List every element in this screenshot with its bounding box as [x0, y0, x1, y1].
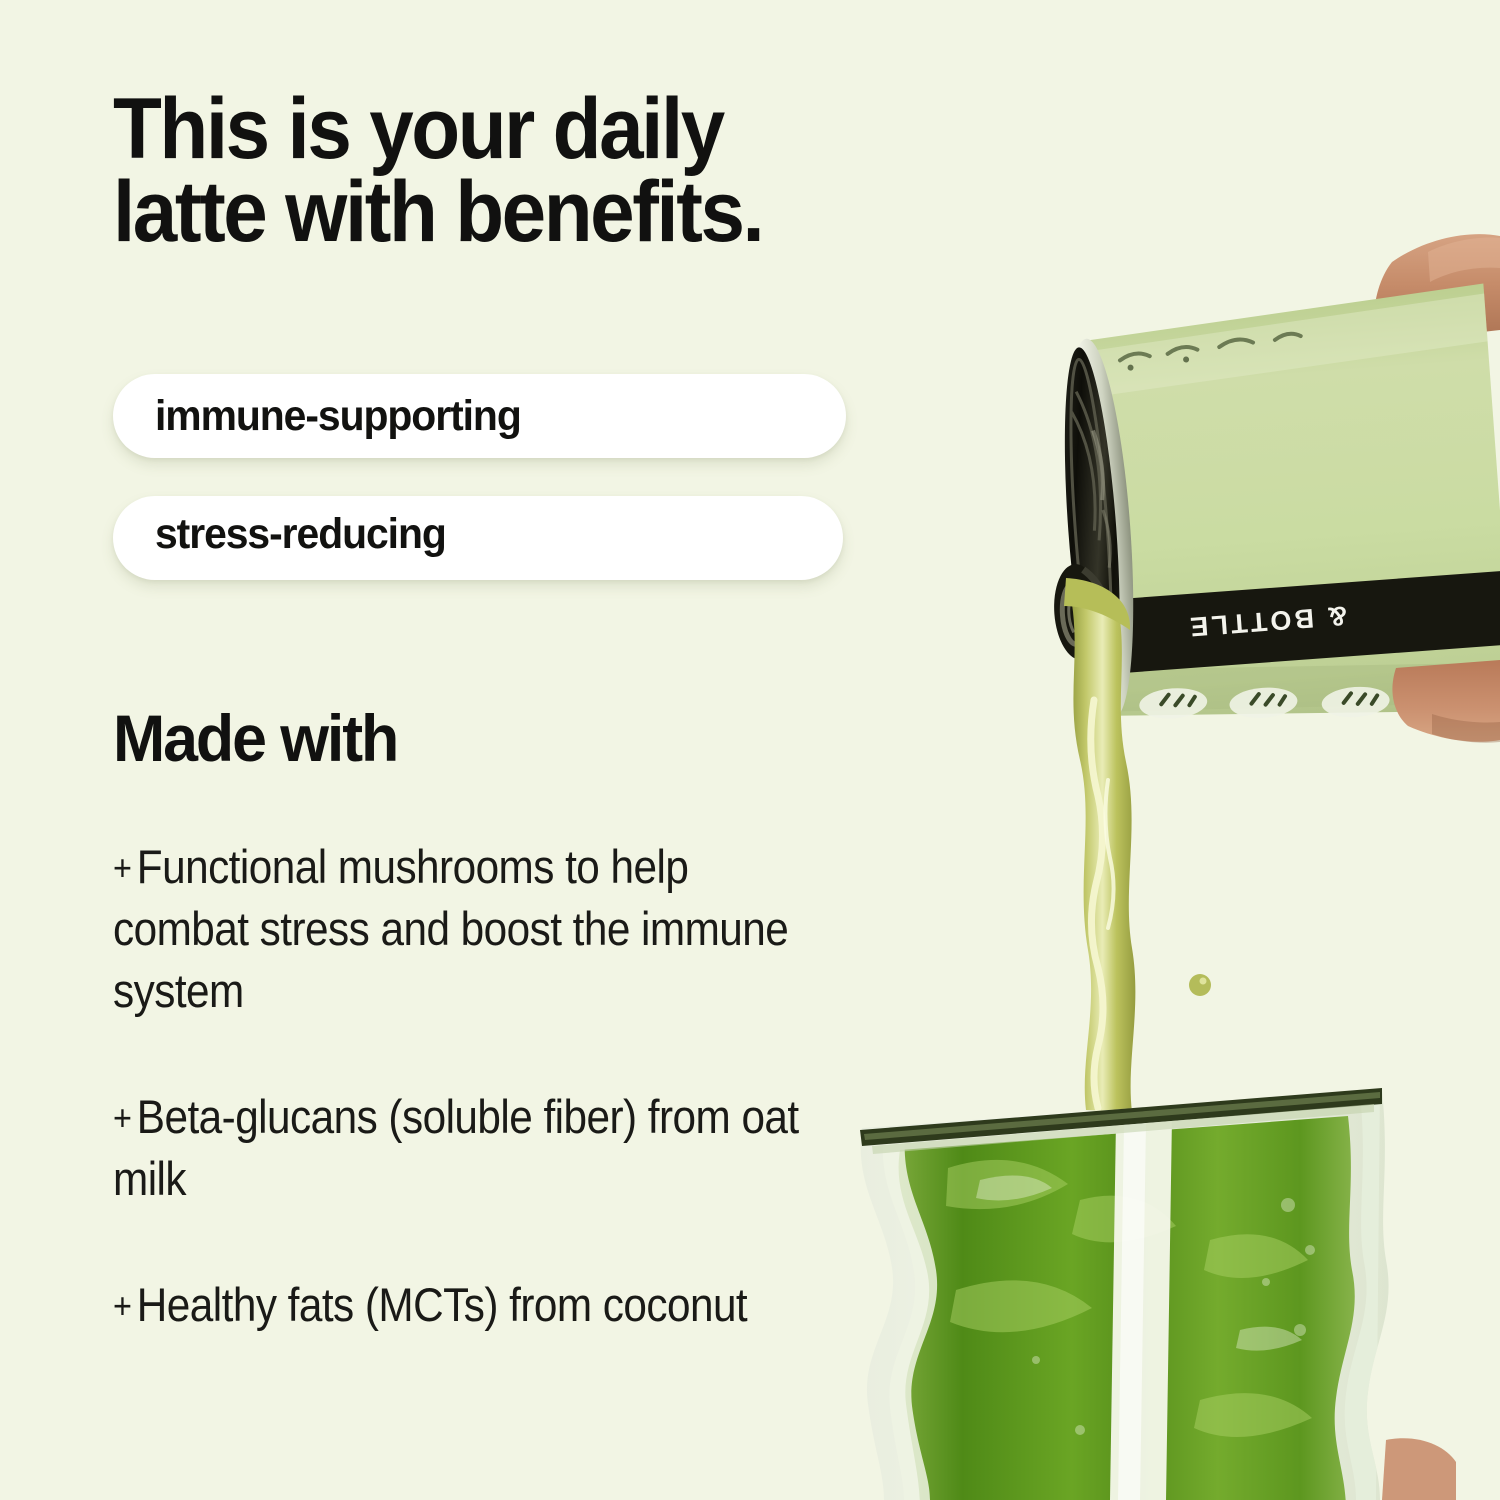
plus-icon: + — [113, 1097, 137, 1138]
benefit-badge-stress-reducing: stress-reducing — [113, 496, 843, 580]
list-item: +Beta-glucans (soluble fiber) from oat m… — [113, 1086, 824, 1210]
benefit-badge-label: stress-reducing — [155, 510, 446, 559]
list-item: +Healthy fats (MCTs) from coconut — [113, 1274, 824, 1336]
plus-icon: + — [113, 847, 137, 888]
product-marketing-graphic: & BOTTLE — [0, 0, 1500, 1500]
list-item-text: Healthy fats (MCTs) from coconut — [137, 1278, 747, 1331]
benefit-badge-immune-supporting: immune-supporting — [113, 374, 846, 458]
made-with-heading: Made with — [113, 700, 397, 776]
list-item-text: Functional mushrooms to help combat stre… — [113, 840, 788, 1017]
liquid-droplet — [1189, 974, 1211, 996]
list-item: +Functional mushrooms to help combat str… — [113, 836, 824, 1022]
benefit-badge-label: immune-supporting — [155, 392, 521, 441]
ingredients-list: +Functional mushrooms to help combat str… — [113, 836, 903, 1400]
plus-icon: + — [113, 1285, 137, 1326]
drinking-glass — [860, 1088, 1389, 1500]
page-title: This is your daily latte with benefits. — [113, 88, 913, 255]
copy-column: This is your daily latte with benefits. … — [113, 0, 913, 1500]
list-item-text: Beta-glucans (soluble fiber) from oat mi… — [113, 1090, 799, 1205]
